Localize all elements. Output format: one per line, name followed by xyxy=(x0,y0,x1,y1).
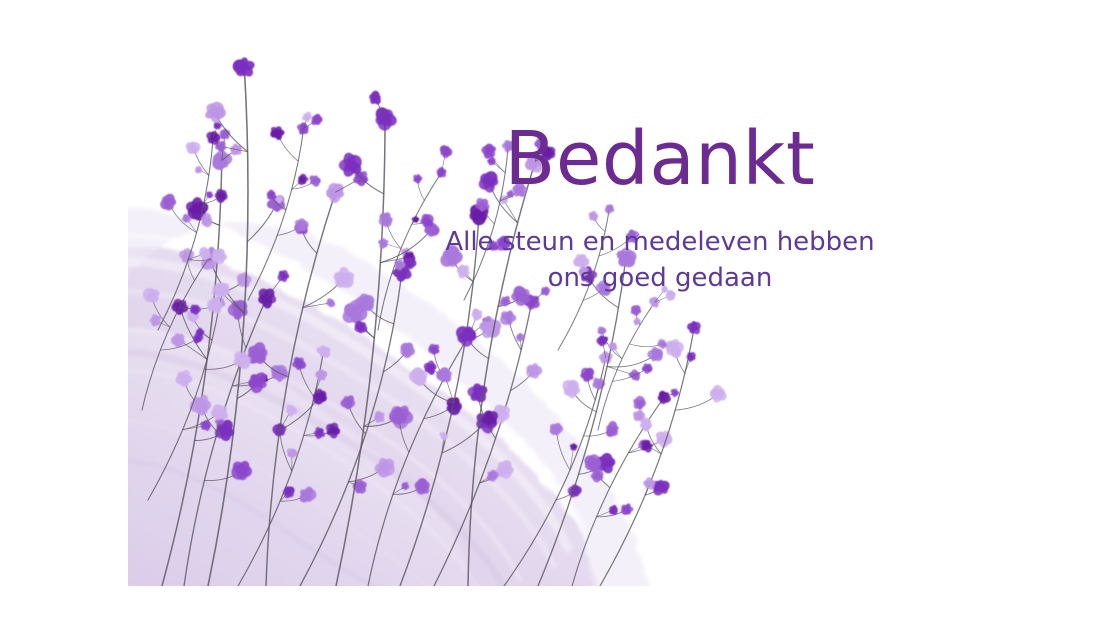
card-artwork-page: Bedankt Alle steun en medeleven hebben o… xyxy=(0,0,1115,619)
watercolor-floral-corner-artwork xyxy=(128,0,878,586)
sympathy-thank-you-card xyxy=(128,0,878,586)
